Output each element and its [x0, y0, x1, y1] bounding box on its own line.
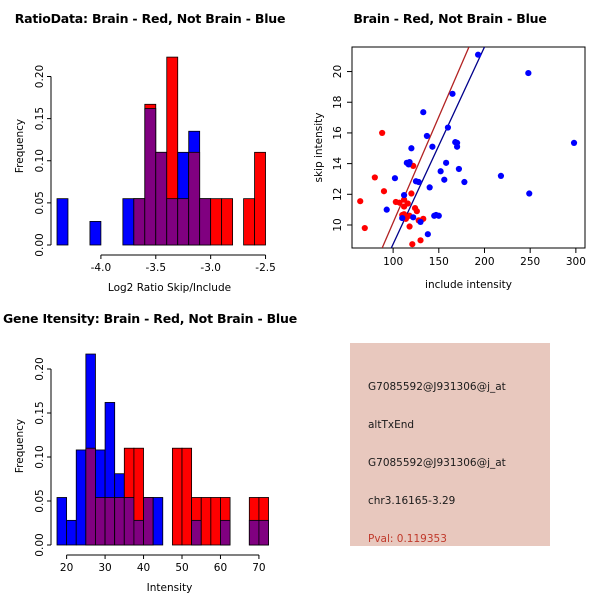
- info-probe-id-top: G7085592@J931306@j_at: [368, 381, 506, 393]
- gene-histogram-plot: 0.000.050.100.150.20203040506070Intensit…: [0, 300, 300, 600]
- y-tick-label: 0.00: [34, 233, 46, 256]
- histogram-bar-overlap: [144, 497, 154, 545]
- histogram-bar: [67, 520, 77, 545]
- scatter-point: [362, 225, 368, 231]
- x-tick-label: 100: [383, 256, 403, 268]
- histogram-bar-overlap: [145, 109, 156, 245]
- histogram-bar-overlap: [249, 520, 259, 545]
- y-tick-label: 0.20: [34, 357, 46, 380]
- scatter-point: [571, 140, 577, 146]
- scatter-point: [372, 174, 378, 180]
- scatter-point: [456, 166, 462, 172]
- histogram-bar-overlap: [167, 199, 178, 245]
- scatter-point: [399, 215, 405, 221]
- figure-canvas: RatioData: Brain - Red, Not Brain - Blue…: [0, 0, 600, 600]
- x-tick-label: 60: [214, 562, 227, 574]
- scatter-point: [425, 231, 431, 237]
- scatter-point: [443, 160, 449, 166]
- histogram-bar-overlap: [192, 520, 202, 545]
- y-tick-label: 20: [332, 65, 344, 78]
- svg-scatter-yaxis: 101214161820: [332, 65, 352, 232]
- x-tick-label: -2.5: [255, 262, 276, 274]
- y-tick-label: 0.00: [34, 533, 46, 556]
- scatter-point: [429, 144, 435, 150]
- y-tick-label: 0.15: [34, 107, 46, 130]
- scatter-point: [409, 241, 415, 247]
- histogram-bar-overlap: [178, 199, 189, 245]
- histogram-bar: [244, 199, 255, 245]
- scatter-point: [357, 198, 363, 204]
- ratio-histogram-plot: 0.000.050.100.150.20-4.0-3.5-3.0-2.5Log2…: [0, 0, 300, 300]
- scatter-point: [401, 192, 407, 198]
- plot-inner: [357, 47, 577, 248]
- histogram-bar-overlap: [105, 497, 115, 545]
- histogram-bar: [255, 152, 266, 245]
- scatter-point: [445, 124, 451, 130]
- scatter-point: [410, 214, 416, 220]
- x-tick-label: -3.0: [200, 262, 221, 274]
- histogram-bar: [57, 497, 67, 545]
- y-tick-label: 0.20: [34, 65, 46, 88]
- y-axis-title: skip intensity: [313, 113, 325, 183]
- scatter-point: [449, 91, 455, 97]
- scatter-point: [381, 188, 387, 194]
- scatter-point: [438, 168, 444, 174]
- histogram-bar: [153, 497, 163, 545]
- x-tick-label: 30: [98, 562, 111, 574]
- scatter-point: [416, 179, 422, 185]
- y-tick-label: 12: [332, 188, 344, 201]
- histogram-bar: [57, 199, 68, 245]
- y-tick-label: 10: [332, 218, 344, 231]
- plot-frame: [352, 47, 585, 248]
- scatter-point: [417, 219, 423, 225]
- x-tick-label: 20: [60, 562, 73, 574]
- scatter-point: [414, 208, 420, 214]
- y-tick-label: 0.10: [34, 445, 46, 468]
- svg-gene-bars: [57, 354, 269, 545]
- y-tick-label: 0.15: [34, 401, 46, 424]
- info-event-type: altTxEnd: [368, 419, 414, 431]
- y-axis-title: Frequency: [14, 419, 26, 473]
- panel-info: G7085592@J931306@j_at altTxEnd G7085592@…: [300, 300, 600, 600]
- histogram-bar: [123, 199, 134, 245]
- y-tick-label: 0.05: [34, 489, 46, 512]
- scatter-point: [408, 190, 414, 196]
- histogram-bar: [76, 450, 86, 545]
- x-tick-label: 250: [520, 256, 540, 268]
- x-axis-title: Log2 Ratio Skip/Include: [108, 282, 231, 294]
- svg-scatter-xaxis: 100150200250300: [383, 248, 586, 268]
- x-tick-label: 70: [252, 562, 265, 574]
- y-tick-label: 14: [332, 157, 344, 171]
- histogram-bar-overlap: [220, 520, 230, 545]
- scatter-point: [420, 109, 426, 115]
- histogram-bar-overlap: [134, 520, 144, 545]
- scatter-point: [379, 130, 385, 136]
- x-axis-title: Intensity: [147, 582, 193, 594]
- x-tick-label: 150: [429, 256, 449, 268]
- y-tick-label: 16: [332, 126, 344, 140]
- scatter-point: [408, 145, 414, 151]
- scatter-point: [526, 190, 532, 196]
- histogram-bar: [211, 199, 222, 245]
- x-tick-label: -4.0: [91, 262, 112, 274]
- histogram-bar-overlap: [156, 152, 167, 245]
- histogram-bar-overlap: [134, 199, 145, 245]
- histogram-bar-overlap: [259, 520, 269, 545]
- histogram-bar-overlap: [200, 199, 211, 245]
- histogram-bar-overlap: [86, 448, 96, 545]
- scatter-plot: 101214161820100150200250300include inten…: [300, 0, 600, 300]
- histogram-bar: [211, 497, 221, 545]
- svg-ratio-xaxis: -4.0-3.5-3.0-2.5: [91, 255, 276, 274]
- scatter-point: [406, 223, 412, 229]
- info-probe-id-bottom: G7085592@J931306@j_at: [368, 457, 506, 469]
- scatter-point: [525, 70, 531, 76]
- scatter-point: [424, 133, 430, 139]
- scatter-point: [475, 52, 481, 58]
- histogram-bar: [90, 221, 101, 245]
- x-tick-label: 50: [175, 562, 188, 574]
- scatter-point: [417, 237, 423, 243]
- y-axis-title: Frequency: [14, 119, 26, 173]
- svg-ratio-bars: [57, 57, 266, 245]
- info-box: G7085592@J931306@j_at altTxEnd G7085592@…: [350, 343, 550, 546]
- scatter-point: [454, 144, 460, 150]
- scatter-point: [441, 177, 447, 183]
- histogram-bar-overlap: [115, 497, 125, 545]
- scatter-point: [384, 207, 390, 213]
- histogram-bar-overlap: [189, 152, 200, 245]
- x-tick-label: 40: [137, 562, 150, 574]
- histogram-bar-overlap: [95, 497, 105, 545]
- panel-ratio-histogram: RatioData: Brain - Red, Not Brain - Blue…: [0, 0, 300, 300]
- panel-scatter: Brain - Red, Not Brain - Blue 1012141618…: [300, 0, 600, 300]
- histogram-bar: [222, 199, 233, 245]
- y-tick-label: 0.05: [34, 191, 46, 214]
- scatter-point: [461, 179, 467, 185]
- x-tick-label: 300: [566, 256, 586, 268]
- x-tick-label: 200: [474, 256, 494, 268]
- info-pval: Pval: 0.119353: [368, 533, 447, 545]
- panel-gene-histogram: Gene Itensity: Brain - Red, Not Brain - …: [0, 300, 300, 600]
- scatter-point: [498, 173, 504, 179]
- scatter-point: [427, 184, 433, 190]
- y-tick-label: 0.10: [34, 149, 46, 172]
- scatter-point: [406, 159, 412, 165]
- x-axis-title: include intensity: [425, 279, 512, 291]
- histogram-bar: [182, 448, 192, 545]
- scatter-point: [392, 175, 398, 181]
- scatter-point: [436, 213, 442, 219]
- histogram-bar-overlap: [124, 497, 134, 545]
- info-locus: chr3.16165-3.29: [368, 495, 455, 507]
- histogram-bar: [172, 448, 182, 545]
- svg-gene-yaxis: 0.000.050.100.150.20: [34, 357, 51, 556]
- x-tick-label: -3.5: [146, 262, 167, 274]
- svg-gene-xaxis: 203040506070: [60, 555, 266, 574]
- svg-ratio-yaxis: 0.000.050.100.150.20: [34, 65, 51, 257]
- y-tick-label: 18: [332, 96, 344, 109]
- histogram-bar: [201, 497, 211, 545]
